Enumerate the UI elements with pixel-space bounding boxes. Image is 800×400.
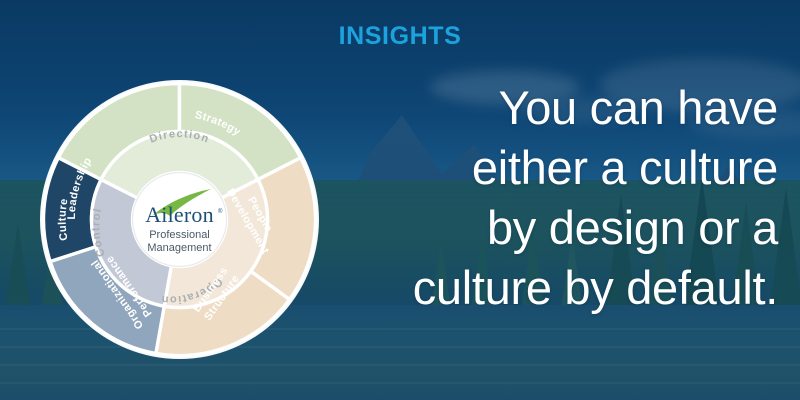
aileron-tagline-line1: Professional [149,229,210,241]
insight-graphic: INSIGHTS You can have either a culture b… [0,0,800,400]
aileron-wordmark: Aileron [145,202,214,227]
aileron-wheel-diagram: Aileron ® Professional Management Leader… [39,79,320,360]
eyebrow-label: INSIGHTS [0,24,800,49]
wheel-label-culture: Culture [57,197,71,241]
aileron-tagline-line2: Management [147,242,211,254]
aileron-registered-mark: ® [218,208,223,215]
